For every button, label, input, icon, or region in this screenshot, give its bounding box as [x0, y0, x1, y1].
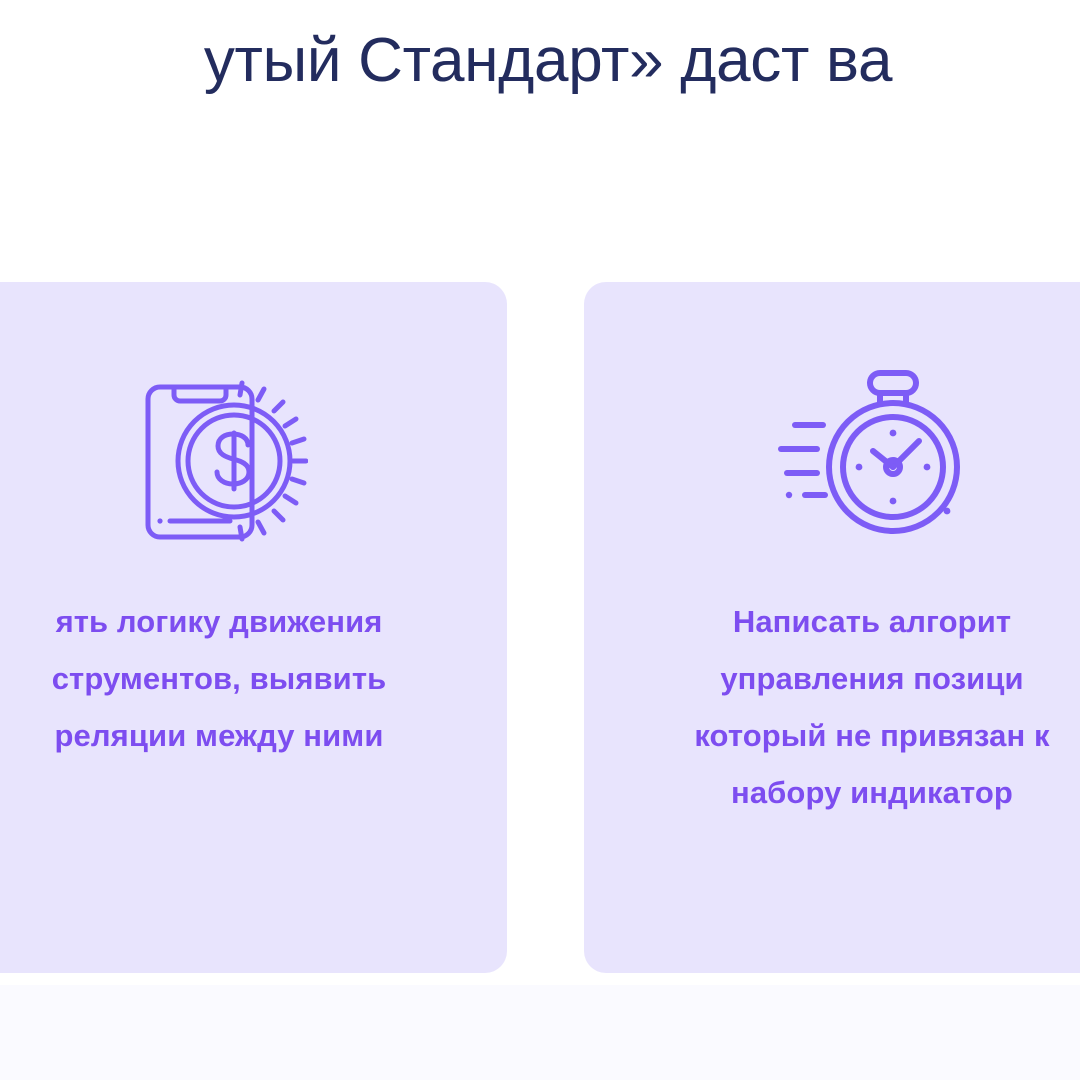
feature-card-1-text: ять логику движения струментов, выявить …	[0, 593, 507, 764]
feature-cards-row: ять логику движения струментов, выявить …	[0, 282, 1080, 974]
lower-section-band	[0, 985, 1080, 1080]
page-canvas: утый Стандарт» даст ва	[0, 0, 1080, 1080]
page-title: утый Стандарт» даст ва	[0, 22, 1080, 100]
stopwatch-speed-icon	[584, 368, 1080, 548]
feature-card-1[interactable]: ять логику движения струментов, выявить …	[0, 282, 507, 973]
feature-card-2-text: Написать алгорит управления позици котор…	[584, 593, 1080, 821]
feature-card-2[interactable]: Написать алгорит управления позици котор…	[584, 282, 1080, 973]
mobile-payment-icon	[0, 368, 507, 548]
